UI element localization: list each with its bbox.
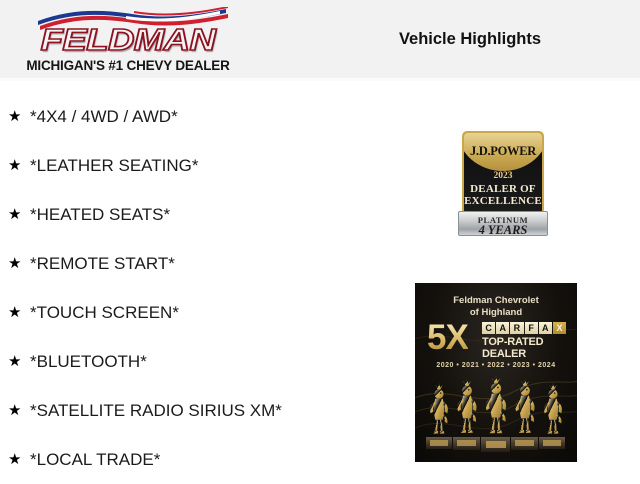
jd-power-base: PLATINUM 4 YEARS <box>458 211 548 236</box>
page-title: Vehicle Highlights <box>300 30 640 49</box>
list-item: ★ *REMOTE START* <box>8 239 408 288</box>
list-item-label: *LEATHER SEATING* <box>30 156 198 176</box>
carfax-dealer-name: Feldman Chevrolet <box>415 295 577 306</box>
carfax-dealer-city: of Highland <box>415 307 577 318</box>
vehicle-highlights-list: ★ *4X4 / 4WD / AWD* ★ *LEATHER SEATING* … <box>8 92 408 484</box>
carfax-line1: TOP-RATED <box>482 336 566 348</box>
star-icon: ★ <box>8 207 30 222</box>
list-item: ★ *SATELLITE RADIO SIRIUS XM* <box>8 386 408 435</box>
carfax-years: 2020 • 2021 • 2022 • 2023 • 2024 <box>415 362 577 369</box>
list-item-label: *HEATED SEATS* <box>30 205 170 225</box>
list-item: ★ *LEATHER SEATING* <box>8 141 408 190</box>
list-item-label: *LOCAL TRADE* <box>30 450 160 470</box>
jd-power-award-badge: J.D.POWER 2023 DEALER OF EXCELLENCE PLAT… <box>458 131 548 236</box>
jd-power-duration: 4 YEARS <box>459 223 547 238</box>
jd-power-line2: EXCELLENCE <box>464 195 542 207</box>
star-icon: ★ <box>8 109 30 124</box>
carfax-letter: F <box>525 322 538 334</box>
list-item: ★ *BLUETOOTH* <box>8 337 408 386</box>
carfax-letter: A <box>496 322 509 334</box>
list-item-label: *SATELLITE RADIO SIRIUS XM* <box>30 401 282 421</box>
carfax-letter: C <box>482 322 495 334</box>
dealer-logo-tagline: MICHIGAN'S #1 CHEVY DEALER <box>14 58 242 73</box>
carfax-line2: DEALER <box>482 348 566 360</box>
carfax-letter: A <box>539 322 552 334</box>
carfax-letter: R <box>510 322 523 334</box>
list-item-label: *4X4 / 4WD / AWD* <box>30 107 178 127</box>
star-icon: ★ <box>8 403 30 418</box>
list-item: ★ *HEATED SEATS* <box>8 190 408 239</box>
carfax-letter-boxes: C A R F A X <box>482 322 566 334</box>
list-item: ★ *LOCAL TRADE* <box>8 435 408 484</box>
jd-power-line1: DEALER OF <box>464 183 542 195</box>
dealer-logo-wordmark: FELDMAN <box>0 23 263 57</box>
carfax-trophy-row-icon <box>415 375 577 462</box>
list-item-label: *REMOTE START* <box>30 254 175 274</box>
jd-power-year: 2023 <box>464 171 542 181</box>
carfax-letter: X <box>553 322 566 334</box>
header-separator <box>0 78 640 81</box>
carfax-multiplier: 5X <box>427 319 468 357</box>
list-item: ★ *4X4 / 4WD / AWD* <box>8 92 408 141</box>
carfax-award-headline: 5X C A R F A X TOP-RATED DEALER <box>427 322 567 360</box>
dealer-logo[interactable]: FELDMAN MICHIGAN'S #1 CHEVY DEALER <box>14 6 242 76</box>
jd-power-shield: J.D.POWER 2023 DEALER OF EXCELLENCE <box>462 131 544 215</box>
list-item-label: *BLUETOOTH* <box>30 352 147 372</box>
carfax-award-card: Feldman Chevrolet of Highland 5X C A R F… <box>415 283 577 462</box>
star-icon: ★ <box>8 305 30 320</box>
list-item-label: *TOUCH SCREEN* <box>30 303 179 323</box>
star-icon: ★ <box>8 158 30 173</box>
star-icon: ★ <box>8 256 30 271</box>
star-icon: ★ <box>8 452 30 467</box>
carfax-logo: C A R F A X TOP-RATED DEALER <box>482 322 566 360</box>
jd-power-brand: J.D.POWER <box>464 144 542 159</box>
star-icon: ★ <box>8 354 30 369</box>
list-item: ★ *TOUCH SCREEN* <box>8 288 408 337</box>
